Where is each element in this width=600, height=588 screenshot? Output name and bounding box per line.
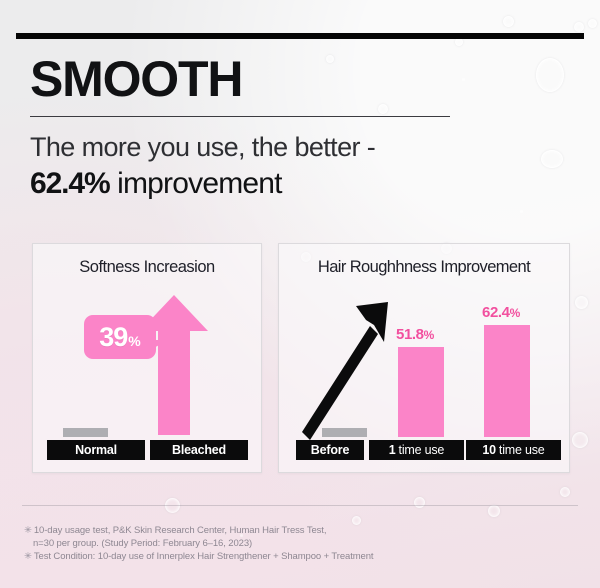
water-bubble-icon [378, 104, 388, 114]
value-label-1-time-use: 51.8% [396, 326, 434, 343]
chip-before: Before [296, 440, 364, 460]
title-divider [30, 116, 450, 117]
chip-10-number: 10 [482, 443, 496, 457]
water-bubble-icon [455, 38, 463, 46]
chip-1-time-use: 1time use [369, 440, 464, 460]
callout-value: 39 [99, 322, 127, 353]
speckle-icon [520, 210, 523, 213]
chip-normal: Normal [47, 440, 145, 460]
chip-1-number: 1 [389, 443, 396, 457]
page-title: SMOOTH [30, 52, 242, 106]
bar-10-time-use [484, 325, 530, 437]
callout-tail [152, 340, 168, 349]
poster-canvas: SMOOTH The more you use, the better - 62… [0, 0, 600, 588]
chip-normal-label: Normal [75, 443, 117, 457]
footnote-line-2-text: n=30 per group. (Study Period: February … [33, 538, 252, 549]
callout-bubble-39: 39% [84, 315, 156, 359]
header-rule [16, 33, 584, 39]
subtitle-line-2: 62.4% improvement [30, 165, 282, 203]
water-bubble-icon [575, 296, 588, 309]
water-bubble-icon [574, 22, 584, 32]
value-1: 51.8 [396, 326, 424, 343]
water-bubble-icon [488, 505, 500, 517]
chip-10-time-use: 10time use [466, 440, 561, 460]
speckle-icon [462, 78, 465, 81]
footnote-line-2: n=30 per group. (Study Period: February … [24, 537, 584, 550]
footnote-block: ✳10-day usage test, P&K Skin Research Ce… [24, 524, 584, 564]
water-bubble-icon [503, 16, 514, 27]
improvement-value: 62.4% [30, 167, 110, 200]
chip-bleached-label: Bleached [172, 443, 226, 457]
footnote-line-1-text: 10-day usage test, P&K Skin Research Cen… [34, 525, 327, 536]
value-2: 62.4 [482, 304, 510, 321]
water-bubble-icon [560, 487, 570, 497]
footer-divider [22, 505, 578, 506]
chip-1-text: time use [399, 443, 445, 457]
water-bubble-icon [536, 58, 564, 92]
chip-10-text: time use [499, 443, 545, 457]
footnote-line-3: ✳Test Condition: 10-day use of Innerplex… [24, 550, 584, 563]
water-bubble-icon [588, 19, 597, 28]
value-1-percent: % [424, 328, 434, 342]
value-label-10-time-use: 62.4% [482, 304, 520, 321]
improvement-word: improvement [110, 167, 282, 200]
footnote-line-1: ✳10-day usage test, P&K Skin Research Ce… [24, 524, 584, 537]
footnote-line-3-text: Test Condition: 10-day use of Innerplex … [34, 551, 374, 562]
water-bubble-icon [541, 150, 563, 168]
trend-arrow-icon [300, 300, 390, 440]
chart-title-roughness: Hair Roughhness Improvement [279, 258, 569, 277]
bar-1-time-use [398, 347, 444, 437]
water-bubble-icon [326, 55, 334, 63]
subtitle-line-1: The more you use, the better - [30, 130, 375, 164]
water-bubble-icon [414, 497, 425, 508]
chip-bleached: Bleached [150, 440, 248, 460]
asterisk-icon: ✳ [24, 525, 32, 536]
water-bubble-icon [572, 432, 588, 448]
chart-title-softness: Softness Increasion [33, 258, 261, 277]
bar-normal-baseline [63, 428, 108, 437]
asterisk-icon: ✳ [24, 551, 32, 562]
callout-percent: % [128, 333, 140, 349]
chip-before-label: Before [311, 443, 349, 457]
value-2-percent: % [510, 306, 520, 320]
